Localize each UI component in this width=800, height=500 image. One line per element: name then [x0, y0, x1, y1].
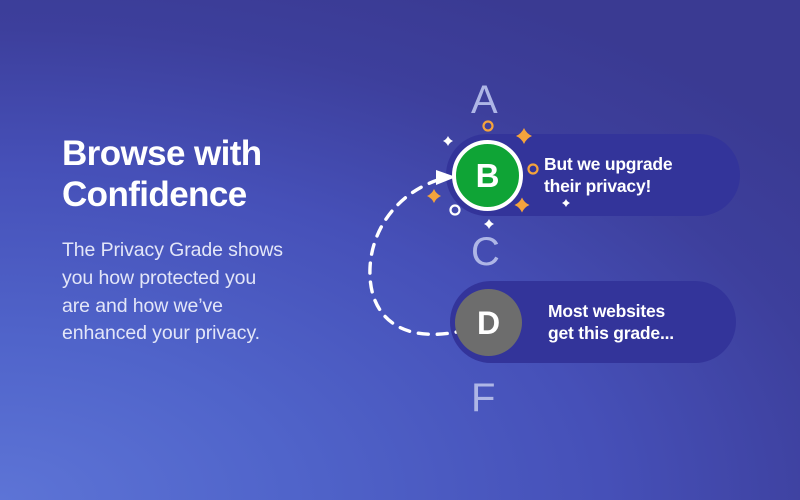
grade-scale-letter-a: A: [471, 80, 498, 120]
page-title: Browse with Confidence: [62, 134, 362, 215]
promo-banner: Browse with Confidence The Privacy Grade…: [0, 0, 800, 500]
grade-badge-default: D: [455, 289, 522, 356]
sparkle-star-white-lower: [484, 219, 494, 229]
sparkle-star-orange-left: [427, 189, 441, 203]
sparkle-ring-white-left: [451, 206, 460, 215]
grade-scale-letter-c: C: [471, 232, 500, 272]
sparkle-ring-orange-top: [484, 122, 493, 131]
grade-badge-upgraded: B: [452, 140, 523, 211]
copy-block: Browse with Confidence The Privacy Grade…: [62, 134, 362, 348]
grade-scale-letter-f: F: [471, 378, 495, 418]
page-description: The Privacy Grade shows you how protecte…: [62, 237, 362, 348]
sparkle-star-white-upper: [443, 136, 453, 146]
upgraded-grade-caption: But we upgrade their privacy!: [544, 153, 672, 198]
default-grade-caption: Most websites get this grade...: [548, 300, 674, 345]
